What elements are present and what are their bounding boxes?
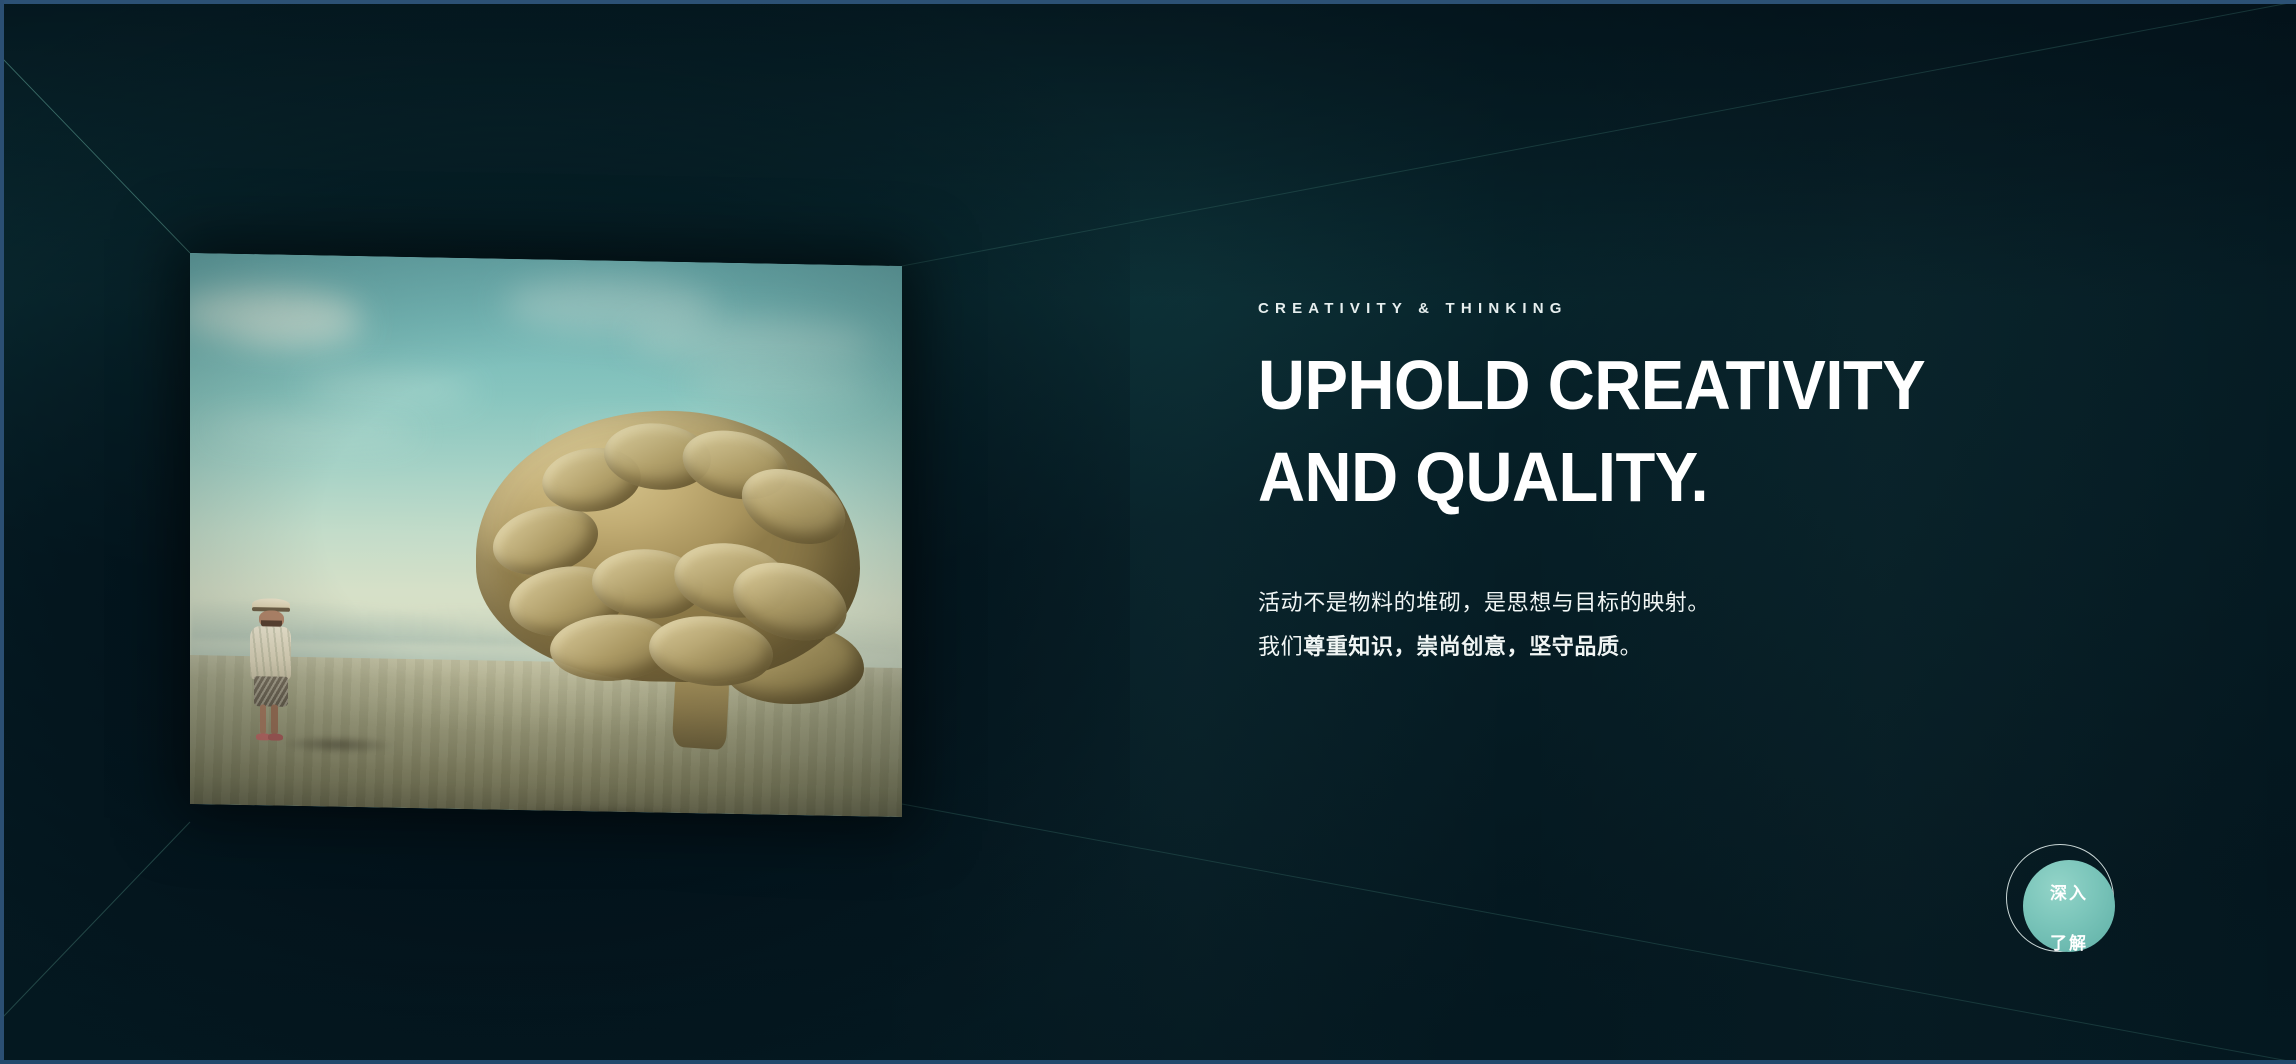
description-emphasis: 尊重知识，崇尚创意，坚守品质 (1303, 634, 1619, 659)
headline-line-2: AND QUALITY. (1258, 431, 2095, 523)
cta-label-line-2: 了解 (2050, 934, 2088, 953)
cloud-icon (304, 373, 475, 405)
hero-stage: CREATIVITY & THINKING UPHOLD CREATIVITY … (0, 0, 2296, 1064)
brain-photo-frame (190, 253, 902, 817)
cloud-icon (204, 416, 418, 444)
leg (260, 705, 267, 735)
cloud-icon (688, 368, 873, 404)
learn-more-button[interactable]: 深入 了解 (2006, 844, 2128, 966)
giant-brain (468, 407, 881, 745)
description-prefix: 我们 (1258, 634, 1303, 659)
standing-man (248, 598, 299, 742)
brain-photo (190, 253, 902, 817)
headline-line-1: UPHOLD CREATIVITY (1258, 339, 2095, 431)
eyebrow-label: CREATIVITY & THINKING (1258, 300, 2158, 317)
window-edge-bottom (0, 1060, 2296, 1064)
cta-label-line-1: 深入 (2050, 884, 2088, 903)
description-suffix: 。 (1620, 634, 1643, 659)
shirt (250, 626, 291, 680)
cta-disc[interactable]: 深入 了解 (2023, 860, 2115, 952)
window-edge-top (0, 0, 2296, 4)
description-line-2: 我们尊重知识，崇尚创意，坚守品质。 (1258, 625, 2158, 669)
description-line-1: 活动不是物料的堆砌，是思想与目标的映射。 (1258, 581, 2158, 625)
cta-label: 深入 了解 (2050, 856, 2088, 956)
leg (271, 705, 278, 735)
shorts (254, 676, 289, 707)
cloud-icon (631, 314, 873, 367)
hero-content: CREATIVITY & THINKING UPHOLD CREATIVITY … (1258, 300, 2158, 669)
shoe (268, 733, 283, 740)
hero-description: 活动不是物料的堆砌，是思想与目标的映射。 我们尊重知识，崇尚创意，坚守品质。 (1258, 581, 2158, 669)
window-edge-left (0, 0, 4, 1064)
page-title: UPHOLD CREATIVITY AND QUALITY. (1258, 339, 2095, 523)
